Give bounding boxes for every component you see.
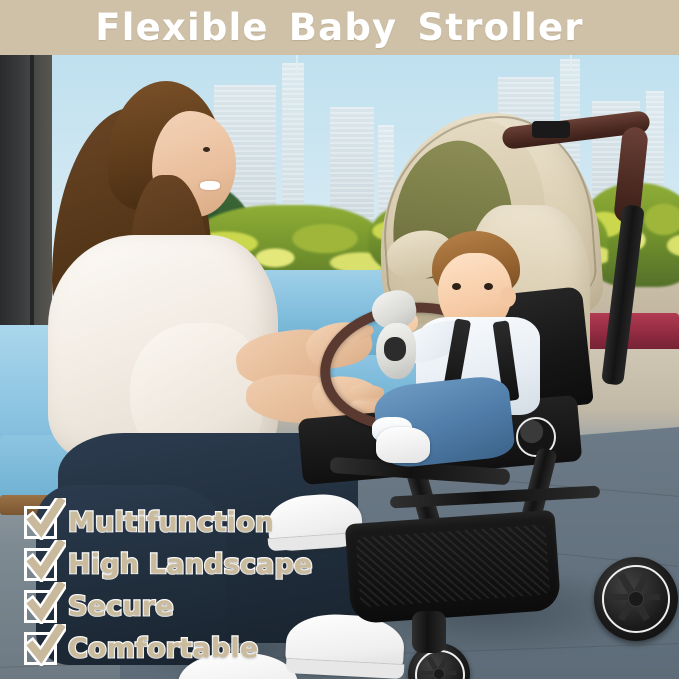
wheel-hub-cap (628, 591, 644, 607)
checkbox-checked-icon (24, 632, 57, 665)
page-title: Flexible Baby Stroller (95, 9, 584, 46)
feature-label: Secure (68, 593, 174, 620)
check-mark-icon (26, 498, 66, 540)
basket-mesh-panel (356, 524, 550, 607)
front-wheel-fork (412, 611, 446, 653)
baby-shoe (376, 427, 430, 463)
checkbox-checked-icon (24, 548, 57, 581)
handlebar-clamp (532, 121, 570, 138)
stroller-rear-wheel (594, 557, 678, 641)
feature-item: Comfortable (24, 632, 313, 665)
feature-item: High Landscape (24, 548, 313, 581)
stroller-storage-basket (345, 510, 561, 624)
check-mark-icon (26, 540, 66, 582)
product-marketing-image: Flexible Baby Stroller (0, 0, 679, 679)
check-mark-icon (26, 582, 66, 624)
checkbox-checked-icon (24, 506, 57, 539)
feature-label: Multifunction (68, 509, 274, 536)
baby-eye (452, 283, 461, 290)
feature-list: Multifunction High Landscape Secure (24, 506, 313, 665)
plush-toy-patch (384, 337, 406, 361)
antenna-mast (296, 55, 298, 73)
baby-ear (500, 287, 516, 307)
title-banner: Flexible Baby Stroller (0, 0, 679, 55)
check-mark-icon (26, 624, 66, 666)
wheel-hub-cap (433, 668, 445, 679)
feature-item: Multifunction (24, 506, 313, 539)
feature-label: Comfortable (68, 635, 258, 662)
woman-smile (200, 181, 220, 190)
woman-eye (203, 147, 210, 152)
feature-item: Secure (24, 590, 313, 623)
checkbox-checked-icon (24, 590, 57, 623)
antenna-mast (570, 55, 572, 71)
baby-eye (484, 283, 493, 290)
feature-label: High Landscape (68, 551, 313, 578)
